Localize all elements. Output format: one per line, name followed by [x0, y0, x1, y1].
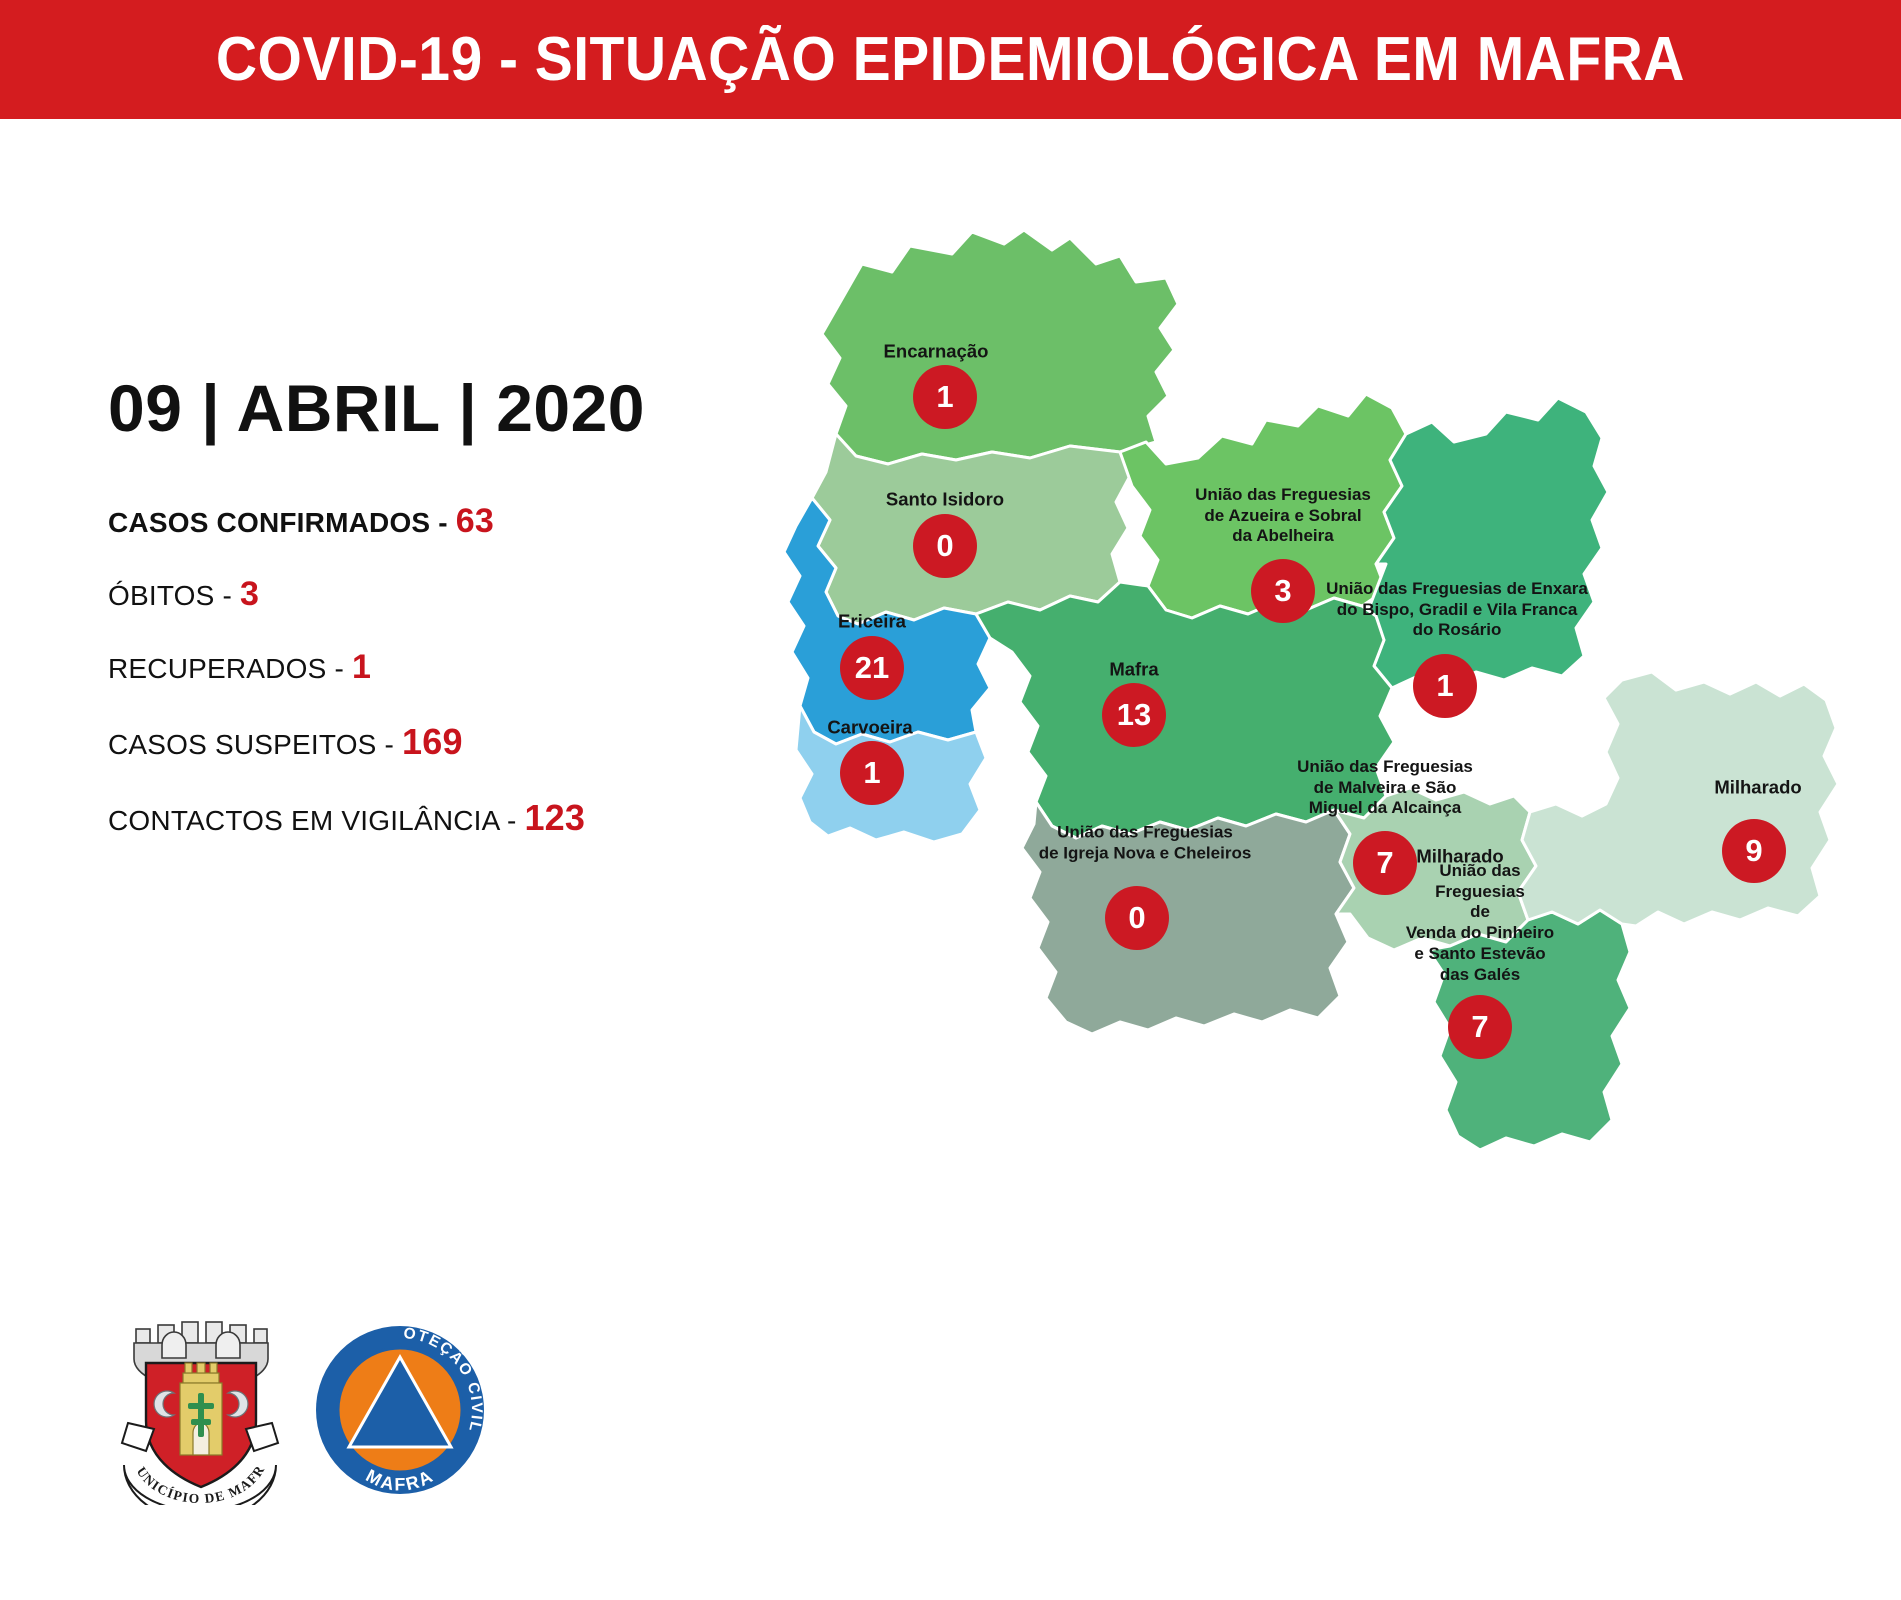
stat-label: CONTACTOS EM VIGILÂNCIA - [108, 805, 524, 836]
map-region-milharado[interactable] [1518, 672, 1838, 926]
page-title: COVID-19 - SITUAÇÃO EPIDEMIOLÓGICA EM MA… [216, 24, 1685, 95]
case-count-marker-enxara-bispo[interactable]: 1 [1413, 654, 1477, 718]
header-banner: COVID-19 - SITUAÇÃO EPIDEMIOLÓGICA EM MA… [0, 0, 1901, 119]
map-region-enxara-bispo[interactable] [1366, 398, 1608, 688]
municipio-de-mafra-coat-of-arms-icon: MUNICÍPIO DE MAFRA [110, 1315, 290, 1505]
protecao-civil-mafra-logo-icon: PROTEÇÃO CIVIL MAFRA [315, 1325, 485, 1495]
case-count-marker-santo-isidoro[interactable]: 0 [913, 514, 977, 578]
case-count-marker-venda-pinheiro[interactable]: 7 [1448, 995, 1512, 1059]
mafra-parish-map: Encarnação1Santo Isidoro0Ericeira21Carvo… [600, 220, 1860, 1340]
case-count-marker-ericeira[interactable]: 21 [840, 636, 904, 700]
case-count-marker-encarnacao[interactable]: 1 [913, 365, 977, 429]
map-region-mafra[interactable] [976, 582, 1394, 838]
map-region-igreja-nova[interactable] [1022, 802, 1354, 1034]
stat-label: CASOS SUSPEITOS - [108, 729, 402, 760]
case-count-marker-mafra[interactable]: 13 [1102, 683, 1166, 747]
stat-value: 123 [524, 797, 585, 838]
stat-value: 169 [402, 721, 463, 762]
case-count-marker-azueira-sobral[interactable]: 3 [1251, 559, 1315, 623]
case-count-marker-milharado[interactable]: 9 [1722, 819, 1786, 883]
stat-label: RECUPERADOS - [108, 653, 352, 684]
logo-row: MUNICÍPIO DE MAFRA PROTEÇÃO CIVIL MAFRA [100, 1315, 520, 1505]
map-region-encarnacao[interactable] [822, 230, 1178, 464]
stat-value: 1 [352, 648, 371, 686]
map-svg [600, 220, 1860, 1340]
stat-label: ÓBITOS - [108, 580, 240, 611]
infographic-page: COVID-19 - SITUAÇÃO EPIDEMIOLÓGICA EM MA… [0, 0, 1901, 1600]
case-count-marker-igreja-nova[interactable]: 0 [1105, 886, 1169, 950]
case-count-marker-malveira[interactable]: 7 [1353, 831, 1417, 895]
case-count-marker-carvoeira[interactable]: 1 [840, 741, 904, 805]
stat-value: 3 [240, 575, 259, 613]
stat-label: CASOS CONFIRMADOS - [108, 507, 456, 538]
stat-value: 63 [456, 502, 494, 540]
